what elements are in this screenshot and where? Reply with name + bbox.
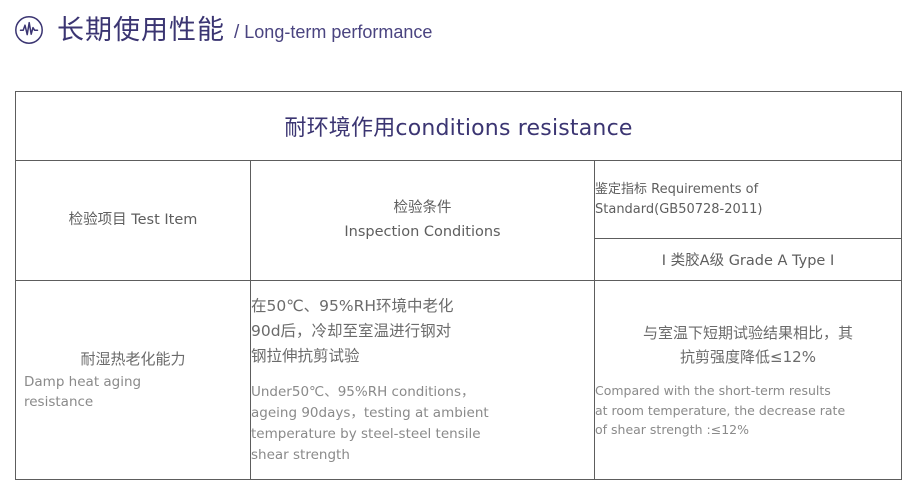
- caption-cn: 耐环境作用: [284, 116, 395, 141]
- cell-requirement: 与室温下短期试验结果相比，其 抗剪强度降低≤12% Compared with …: [595, 281, 902, 480]
- table-header-row: 检验项目 Test Item 检验条件 Inspection Condition…: [16, 161, 902, 239]
- column-header-grade: Ⅰ 类胶A级 Grade A Type Ⅰ: [595, 239, 902, 281]
- conditions-en-line-2: ageing 90days，testing at ambient: [251, 403, 594, 424]
- requirement-en-line-3: of shear strength :≤12%: [595, 420, 901, 440]
- test-item-label: 检验项目 Test Item: [69, 212, 198, 228]
- column-header-inspection-conditions: 检验条件 Inspection Conditions: [251, 161, 595, 281]
- inspection-conditions-en: Inspection Conditions: [251, 221, 594, 245]
- title-separator: /: [234, 23, 239, 42]
- conditions-en-line-4: shear strength: [251, 445, 594, 466]
- test-item-en-line-2: resistance: [24, 392, 250, 412]
- conditions-en-line-1: Under50℃、95%RH conditions，: [251, 382, 594, 403]
- requirement-en-line-1: Compared with the short-term results: [595, 381, 901, 401]
- pulse-circle-icon: [14, 15, 44, 45]
- test-item-en-line-1: Damp heat aging: [24, 372, 250, 392]
- requirement-cn-line-2: 抗剪强度降低≤12%: [595, 345, 901, 369]
- table-caption-cell: 耐环境作用conditions resistance: [16, 92, 902, 161]
- requirement-en-line-2: at room temperature, the decrease rate: [595, 401, 901, 421]
- cell-inspection-conditions: 在50℃、95%RH环境中老化 90d后，冷却至室温进行钢对 钢拉伸抗剪试验 U…: [251, 281, 595, 480]
- specification-table: 耐环境作用conditions resistance 检验项目 Test Ite…: [15, 91, 902, 480]
- requirements-line-1: 鉴定指标 Requirements of: [595, 180, 901, 200]
- conditions-cn-line-1: 在50℃、95%RH环境中老化: [251, 294, 594, 319]
- cell-test-item: 耐湿热老化能力 Damp heat aging resistance: [16, 281, 251, 480]
- column-header-test-item: 检验项目 Test Item: [16, 161, 251, 281]
- conditions-cn-line-3: 钢拉伸抗剪试验: [251, 344, 594, 369]
- page-title: 长期使用性能: [57, 17, 225, 44]
- conditions-en-line-3: temperature by steel-steel tensile: [251, 424, 594, 445]
- table-row: 耐湿热老化能力 Damp heat aging resistance 在50℃、…: [16, 281, 902, 480]
- page-header: 长期使用性能 / Long-term performance: [14, 8, 432, 52]
- inspection-conditions-cn: 检验条件: [251, 197, 594, 221]
- column-header-requirements: 鉴定指标 Requirements of Standard(GB50728-20…: [595, 161, 902, 239]
- grade-label: Ⅰ 类胶A级 Grade A Type Ⅰ: [662, 253, 834, 269]
- test-item-cn: 耐湿热老化能力: [16, 348, 250, 371]
- page-subtitle: Long-term performance: [244, 23, 432, 41]
- table-caption-row: 耐环境作用conditions resistance: [16, 92, 902, 161]
- caption-en: conditions resistance: [395, 116, 632, 141]
- conditions-cn-line-2: 90d后，冷却至室温进行钢对: [251, 319, 594, 344]
- requirements-line-2: Standard(GB50728-2011): [595, 200, 901, 220]
- requirement-cn-line-1: 与室温下短期试验结果相比，其: [595, 321, 901, 345]
